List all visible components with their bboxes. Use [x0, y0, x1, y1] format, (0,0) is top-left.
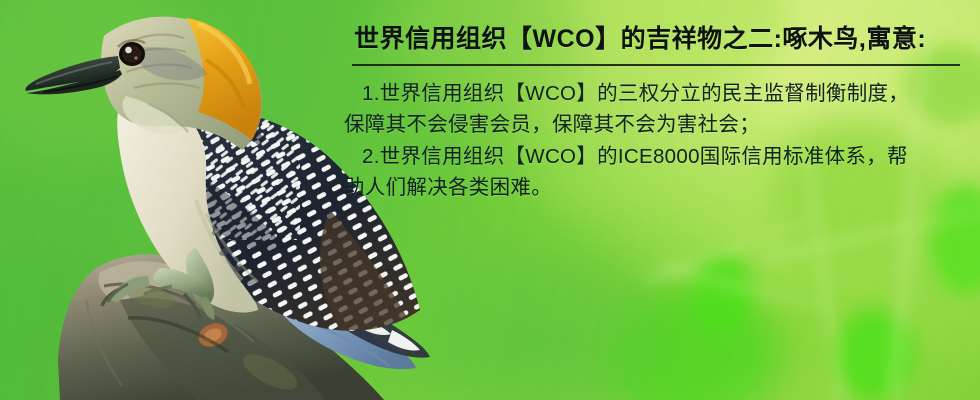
list-item-line-1: 世界信用组织【WCO】的ICE8000国际信用标准体系，帮	[380, 145, 908, 168]
text-block: 世界信用组织【WCO】的吉祥物之二:啄木鸟,寓意: 1.世界信用组织【WCO】的…	[340, 24, 980, 203]
list-item-line-2: 助人们解决各类困难。	[344, 172, 980, 203]
list-item-line-2: 保障其不会侵害会员，保障其不会为害社会；	[344, 109, 980, 140]
title-underline-rule	[352, 64, 960, 66]
wco-mascot-banner: 世界信用组织【WCO】的吉祥物之二:啄木鸟,寓意: 1.世界信用组织【WCO】的…	[0, 0, 980, 400]
list-item: 2.世界信用组织【WCO】的ICE8000国际信用标准体系，帮 助人们解决各类困…	[340, 141, 980, 203]
list-item-marker: 2.	[362, 145, 380, 168]
page-title: 世界信用组织【WCO】的吉祥物之二:啄木鸟,寓意:	[340, 24, 980, 55]
list-item-marker: 1.	[362, 82, 380, 105]
mascot-meaning-list: 1.世界信用组织【WCO】的三权分立的民主监督制衡制度， 保障其不会侵害会员，保…	[340, 78, 980, 203]
list-item-line-1: 世界信用组织【WCO】的三权分立的民主监督制衡制度，	[380, 82, 909, 105]
list-item: 1.世界信用组织【WCO】的三权分立的民主监督制衡制度， 保障其不会侵害会员，保…	[340, 78, 980, 140]
